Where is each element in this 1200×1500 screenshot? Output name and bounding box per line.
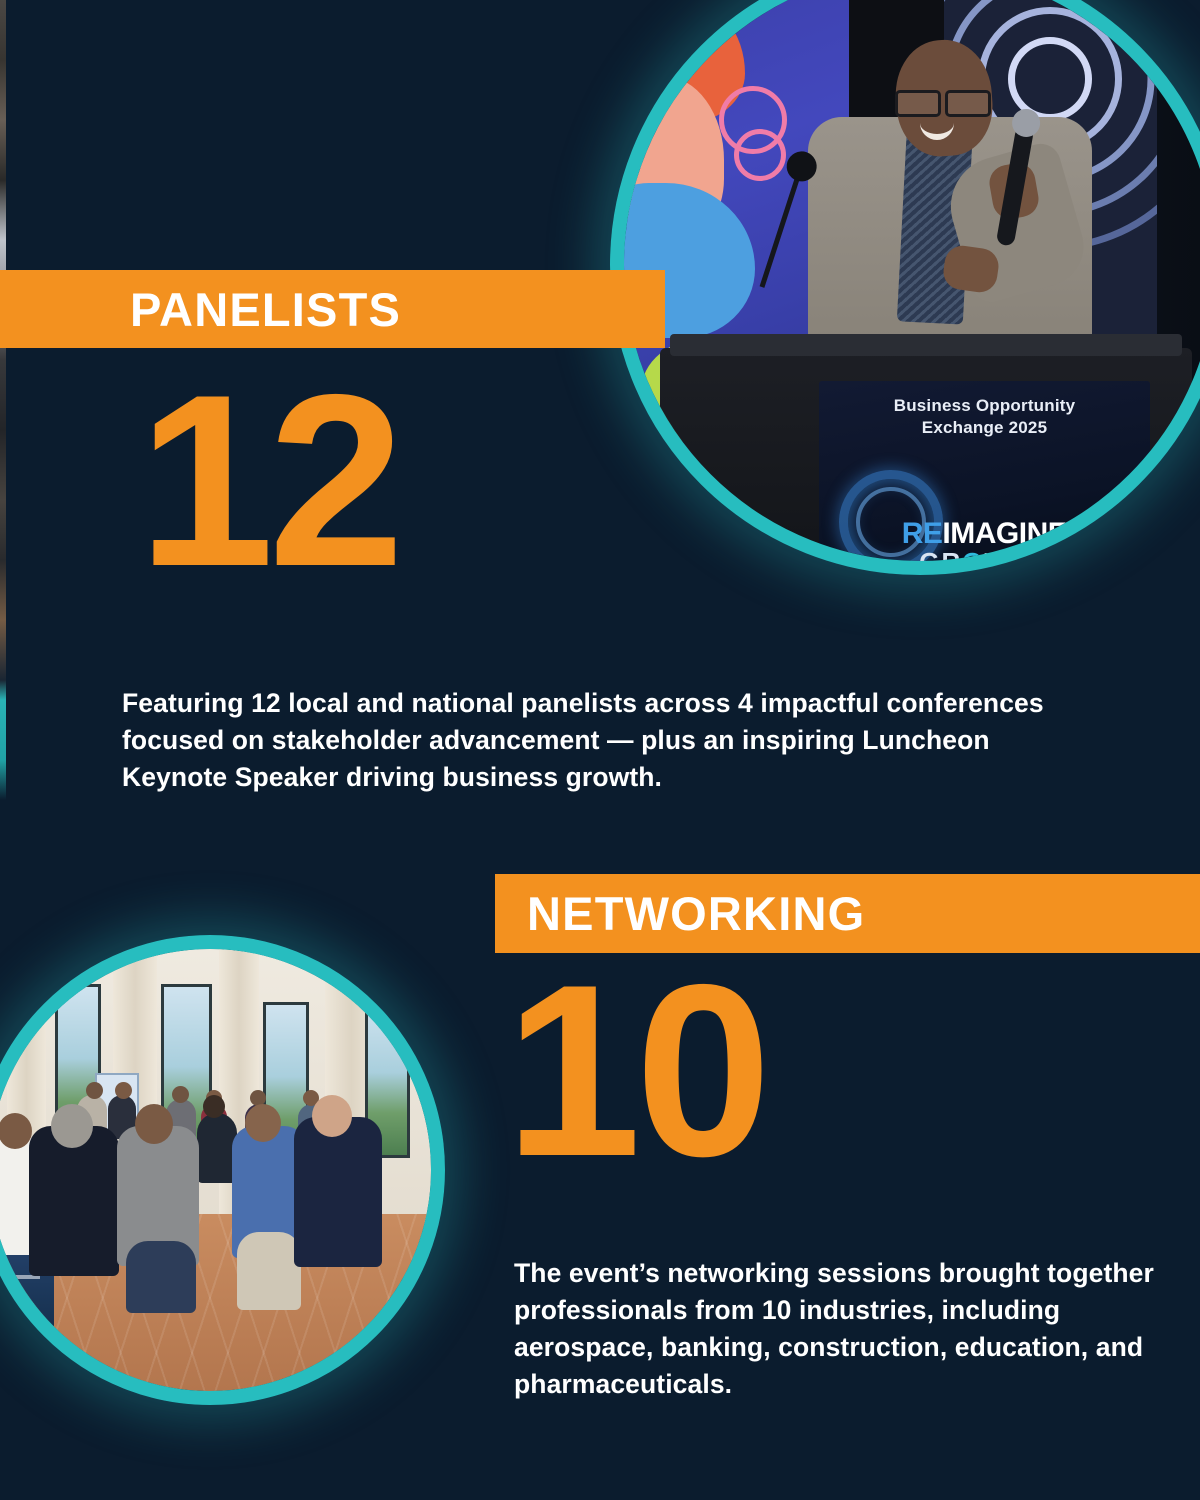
attendee-head: [51, 1104, 93, 1148]
logo-growth-drop-icon: O: [962, 547, 984, 561]
attendee-head: [312, 1095, 352, 1137]
logo-imagine-text: IMAGINE: [942, 517, 1067, 550]
attendee-head: [0, 1113, 32, 1149]
glasses-icon: [893, 90, 993, 112]
networking-banner: NETWORKING: [495, 874, 1200, 953]
podium: Business Opportunity Exchange 2025 REIMA…: [660, 348, 1193, 561]
reimagine-growth-logo: REIMAGINE GROWTH: [819, 517, 1149, 561]
logo-growth-post: WTH: [985, 547, 1050, 561]
attendee-head: [86, 1082, 103, 1099]
networking-description: The event’s networking sessions brought …: [514, 1255, 1189, 1403]
attendee-head: [135, 1104, 173, 1144]
networking-banner-label: NETWORKING: [527, 890, 865, 937]
attendee-legs: [126, 1241, 196, 1313]
attendee: [197, 1113, 237, 1183]
podium-sign: Business Opportunity Exchange 2025 REIMA…: [819, 381, 1149, 561]
screen-swirl-b: [734, 129, 786, 181]
logo-growth: GROWTH: [819, 547, 1149, 561]
logo-growth-pre: GR: [919, 547, 962, 561]
stage-scene: Business Opportunity Exchange 2025 REIMA…: [624, 0, 1200, 561]
logo-reimagine: REIMAGINE: [819, 517, 1149, 551]
panelists-description: Featuring 12 local and national panelist…: [122, 685, 1067, 796]
podium-sign-title: Business Opportunity Exchange 2025: [819, 395, 1149, 439]
networking-photo: [0, 935, 445, 1405]
logo-re-text: RE: [902, 517, 943, 550]
attendee-head: [115, 1082, 132, 1099]
attendee-foreground: [294, 1117, 382, 1267]
edge-photo-sliver: [0, 0, 6, 800]
networking-photo-clip: [0, 949, 431, 1391]
speaker-photo-clip: Business Opportunity Exchange 2025 REIMA…: [624, 0, 1200, 561]
speaker-photo: Business Opportunity Exchange 2025 REIMA…: [610, 0, 1200, 575]
panelists-banner: PANELISTS: [0, 270, 665, 348]
podium-sign-line2: Exchange 2025: [819, 417, 1149, 439]
infographic-page: Business Opportunity Exchange 2025 REIMA…: [0, 0, 1200, 1500]
podium-top: [670, 334, 1181, 356]
podium-sign-line1: Business Opportunity: [819, 395, 1149, 417]
attendee-foreground: [29, 1126, 119, 1276]
panelists-banner-label: PANELISTS: [130, 286, 401, 333]
attendee-head: [245, 1104, 281, 1142]
networking-stat-number: 10: [505, 965, 766, 1176]
reception-hall-scene: [0, 949, 431, 1391]
attendee-legs: [237, 1232, 301, 1310]
panelists-stat-number: 12: [138, 375, 399, 586]
